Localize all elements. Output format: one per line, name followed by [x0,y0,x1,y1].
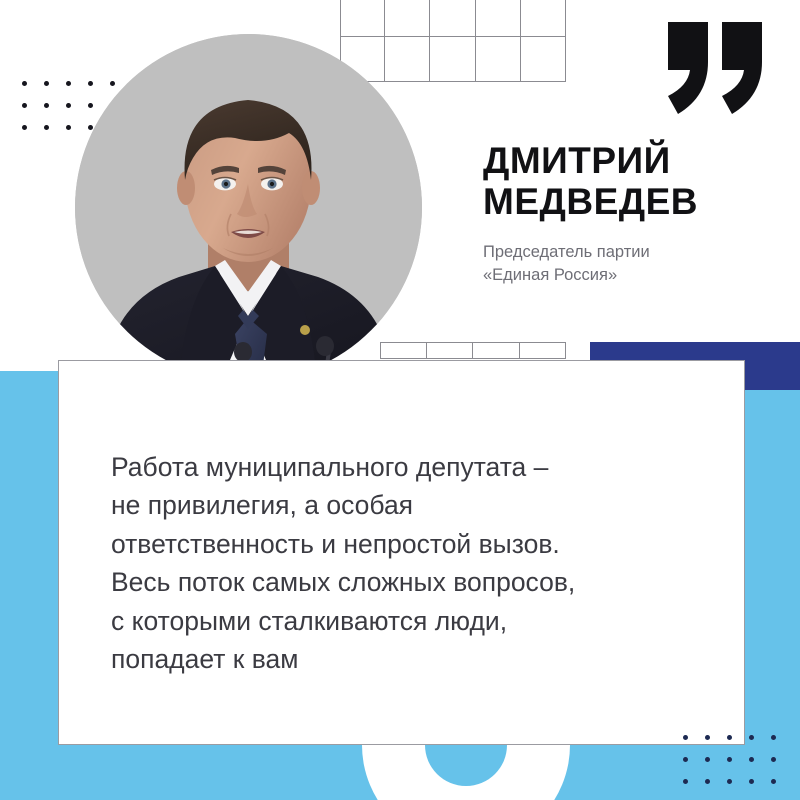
grid-cell [430,37,475,82]
grid-cell [476,37,521,82]
dot [749,735,754,740]
dot [771,779,776,784]
portrait-illustration [75,34,422,381]
dot [727,757,732,762]
grid-cell [380,342,427,359]
dot [66,125,71,130]
dot [749,779,754,784]
grid-cell [520,342,567,359]
dot [727,735,732,740]
quote-line: не привилегия, а особая [111,486,711,524]
decorative-grid-mid [380,342,566,359]
quote-line: Весь поток самых сложных вопросов, [111,563,711,601]
dot [705,735,710,740]
quote-line: ответственность и непростой вызов. [111,525,711,563]
quote-card-graphic: ДМИТРИЙ МЕДВЕДЕВ Председатель партии «Ед… [0,0,800,800]
dot [66,81,71,86]
speaker-portrait [75,34,422,381]
dot [66,103,71,108]
dot [22,81,27,86]
grid-cell [340,0,385,37]
speaker-name-block: ДМИТРИЙ МЕДВЕДЕВ Председатель партии «Ед… [483,140,783,288]
closing-double-quote-icon [668,22,764,114]
decorative-dot-grid-bottom-right [683,735,776,784]
dot [749,757,754,762]
grid-cell [430,0,475,37]
speaker-role-line-1: Председатель партии [483,243,650,261]
grid-cell [521,37,566,82]
speaker-role-line-2: «Единая Россия» [483,266,617,284]
grid-cell [476,0,521,37]
quote-text: Работа муниципального депутата – не прив… [111,448,711,679]
dot [771,735,776,740]
quote-line: с которыми сталкиваются люди, [111,602,711,640]
dot [683,735,688,740]
dot [683,779,688,784]
dot [44,125,49,130]
dot [771,757,776,762]
speaker-name-line-2: МЕДВЕДЕВ [483,181,783,222]
dot [22,103,27,108]
dot [22,125,27,130]
dot [705,757,710,762]
dot [683,757,688,762]
dot [727,779,732,784]
quote-line: Работа муниципального депутата – [111,448,711,486]
grid-cell [473,342,520,359]
grid-cell [385,0,430,37]
dot [44,81,49,86]
dot [44,103,49,108]
quote-line: попадает к вам [111,640,711,678]
speaker-name-line-1: ДМИТРИЙ [483,140,783,181]
dot [705,779,710,784]
grid-cell [427,342,474,359]
quote-card: Работа муниципального депутата – не прив… [58,360,745,745]
grid-cell [521,0,566,37]
speaker-role: Председатель партии «Единая Россия» [483,241,783,288]
